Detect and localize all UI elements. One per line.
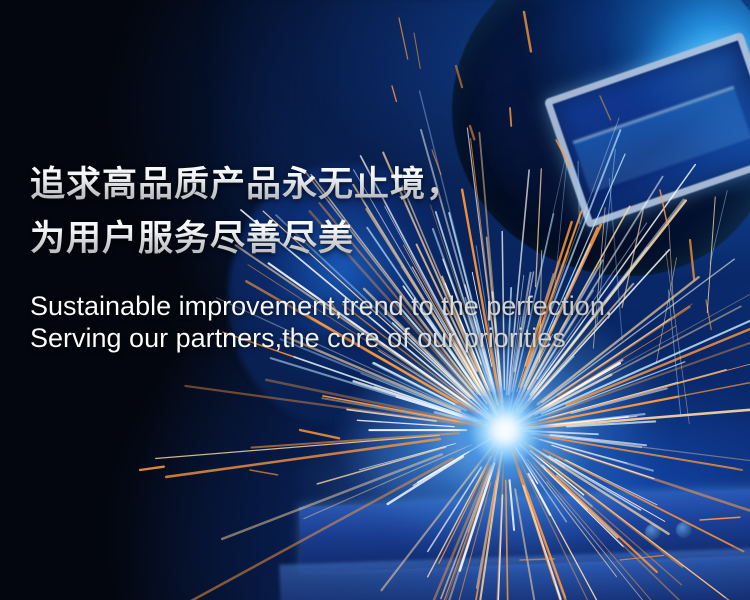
- subheadline-group: Sustainable improvement,trend to the per…: [30, 290, 730, 354]
- spark-burst-core: [445, 370, 565, 490]
- hero-banner: 追求高品质产品永无止境， 为用户服务尽善尽美 Sustainable impro…: [0, 0, 750, 600]
- hero-text-block: 追求高品质产品永无止境， 为用户服务尽善尽美 Sustainable impro…: [30, 158, 730, 354]
- headline-cn-line-1: 追求高品质产品永无止境，: [30, 158, 730, 212]
- subheadline-en-line-2: Serving our partners,the core of our pri…: [30, 322, 730, 354]
- subheadline-en-line-1: Sustainable improvement,trend to the per…: [30, 290, 730, 322]
- headline-cn-line-2: 为用户服务尽善尽美: [30, 212, 730, 266]
